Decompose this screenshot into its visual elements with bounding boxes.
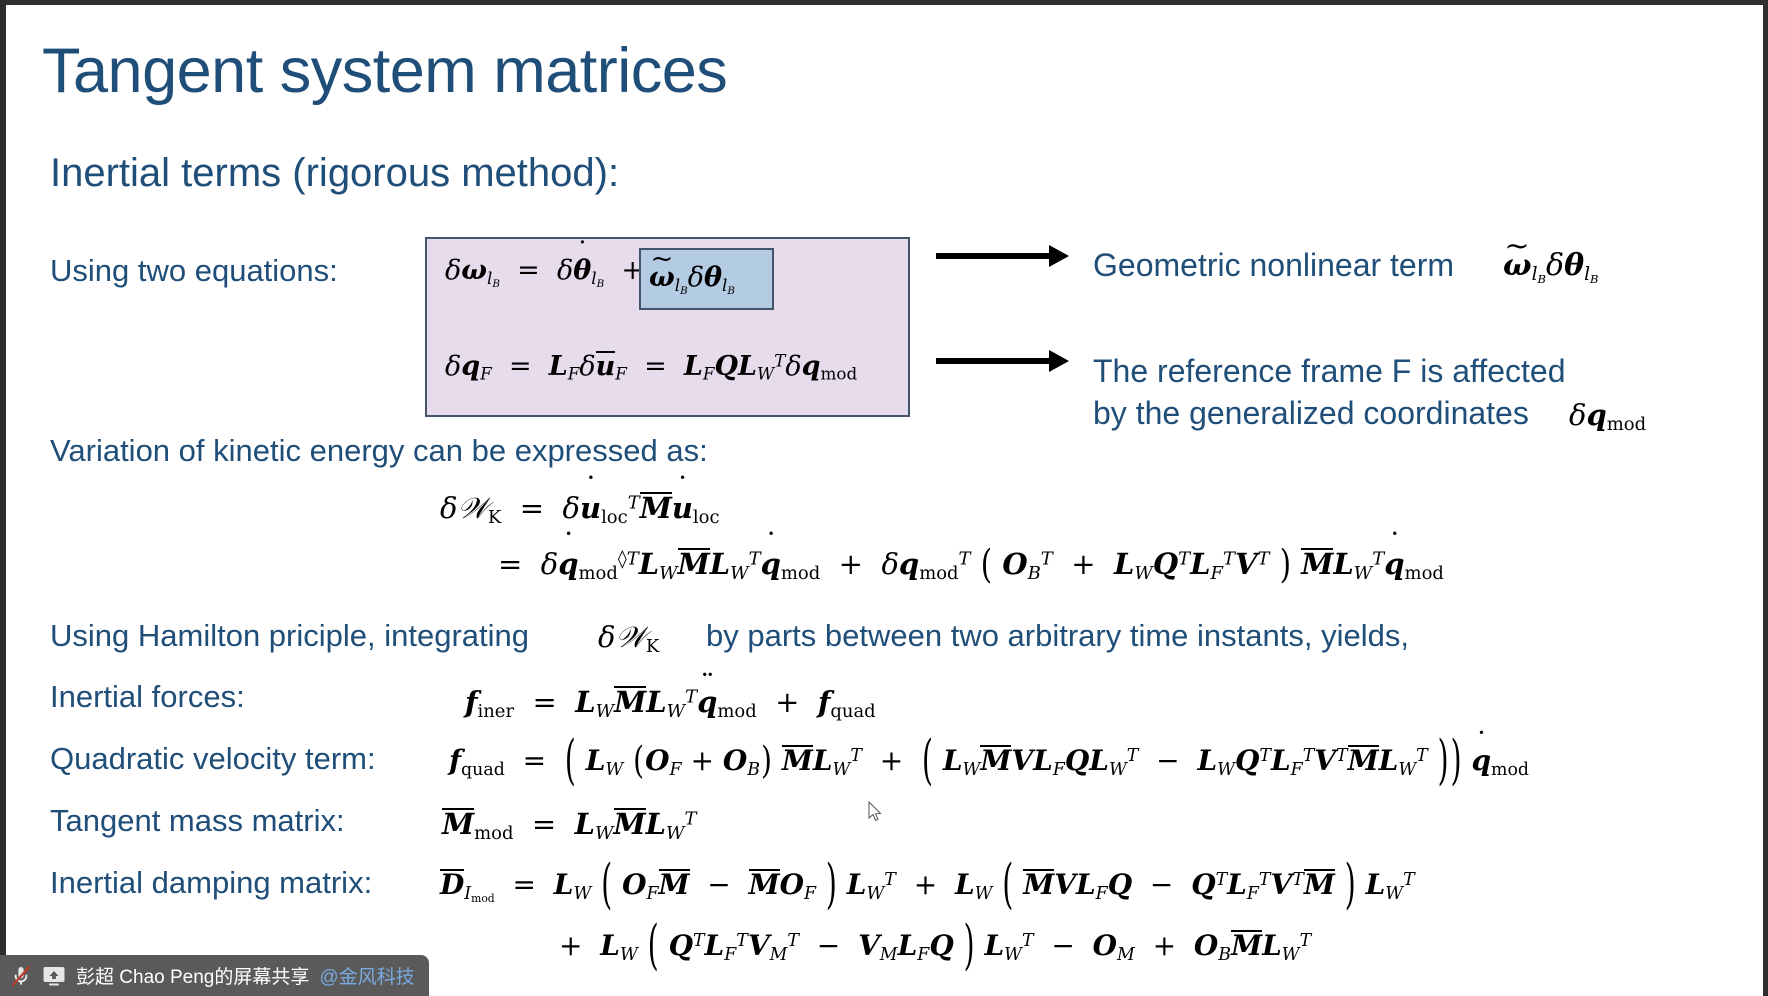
label-using-two-equations: Using two equations: [50, 253, 338, 289]
share-organization-label: @金风科技 [319, 962, 414, 989]
label-hamilton-part1: Using Hamilton priciple, integrating [50, 618, 529, 654]
share-presenter-label: 彭超 Chao Peng的屏幕共享 [76, 962, 309, 989]
screen-share-icon[interactable] [42, 965, 66, 987]
equation-tangent-mass-matrix: Mmod = LWMLWT [442, 808, 697, 839]
arrow-to-reference-frame [936, 350, 1071, 372]
section-subtitle: Inertial terms (rigorous method): [50, 151, 619, 196]
callout-reference-frame-line1: The reference frame F is affected [1093, 353, 1566, 390]
callout-geometric-term-math: ωlBδθlB [1503, 251, 1599, 281]
screen-share-bar[interactable]: 彭超 Chao Peng的屏幕共享 @金风科技 [0, 955, 429, 996]
callout-geometric-nonlinear-term: Geometric nonlinear term [1093, 247, 1454, 284]
label-hamilton-part2: by parts between two arbitrary time inst… [706, 618, 1409, 654]
equations-box: δωlB = δθlB + ωlBδθlB δqF = LFδuF = LFQL… [425, 237, 910, 417]
equation-inertial-forces: finer = LWMLWTqmod + fquad [465, 686, 876, 717]
equation-boxed-1-highlight: ωlBδθlB [649, 264, 735, 291]
label-inertial-damping-matrix: Inertial damping matrix: [50, 865, 372, 901]
slide-canvas: Tangent system matrices Inertial terms (… [6, 5, 1763, 991]
label-inertial-forces: Inertial forces: [50, 679, 245, 715]
equation-kinetic-line1: δ𝒲K = δulocTMuloc [440, 492, 720, 523]
equation-boxed-2: δqF = LFδuF = LFQLWTδqmod [445, 351, 857, 380]
mouse-cursor-icon [868, 801, 884, 823]
hamilton-symbol-math: δ𝒲K [598, 623, 659, 652]
callout-reference-frame-line2: by the generalized coordinates [1093, 395, 1529, 432]
equation-inertial-damping-line2: + LW ( QTLFTVMT − VMLFQ ) LWT − OM + OBM… [559, 930, 1311, 960]
label-quadratic-velocity-term: Quadratic velocity term: [50, 741, 376, 777]
callout-generalized-coordinates-math: δqmod [1569, 401, 1646, 430]
equation-boxed-1: δωlB = δθlB + [445, 257, 644, 284]
equation-inertial-damping-line1: DImod = LW ( OFM − MOF ) LWT + LW ( MVLF… [440, 869, 1415, 899]
presentation-screen: Tangent system matrices Inertial terms (… [0, 0, 1768, 996]
highlighted-geometric-term-box: ωlBδθlB [639, 248, 774, 310]
microphone-muted-icon[interactable] [10, 964, 32, 988]
page-title: Tangent system matrices [42, 35, 727, 107]
arrow-to-geometric-term [936, 245, 1071, 267]
label-tangent-mass-matrix: Tangent mass matrix: [50, 803, 345, 839]
label-variation-kinetic-energy: Variation of kinetic energy can be expre… [50, 433, 708, 469]
window-frame-right [1763, 0, 1768, 996]
equation-kinetic-line2: = δqmod◊TLWMLWTqmod + δqmodT ( OBT + LWQ… [498, 548, 1444, 579]
equation-quadratic-velocity: fquad = ( LW (OF + OB) MLWT + ( LWMVLFQL… [449, 745, 1529, 775]
